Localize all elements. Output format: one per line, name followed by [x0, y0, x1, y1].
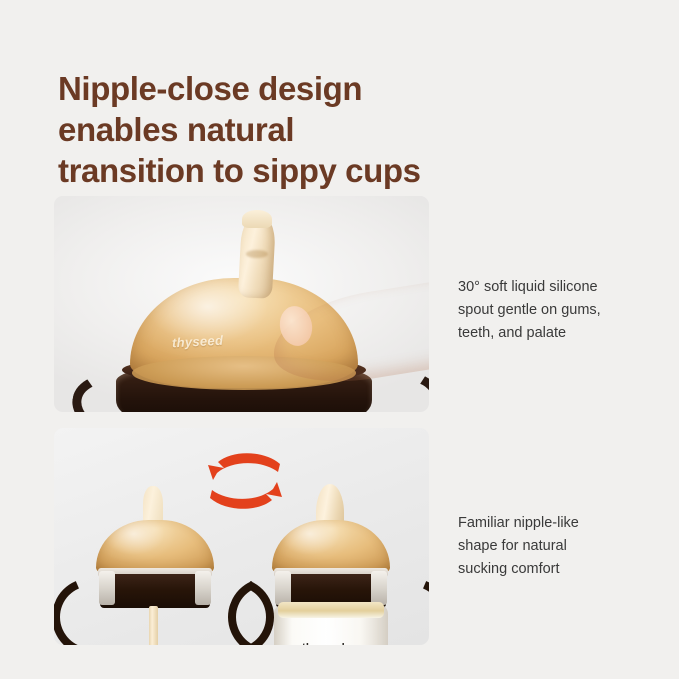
caption-nipple-line-3: sucking comfort [458, 558, 658, 581]
caption-nipple-line-2: shape for natural [458, 535, 658, 558]
caption-spout: 30° soft liquid silicone spout gentle on… [458, 276, 658, 345]
page-title-line-2: enables natural [58, 109, 528, 150]
caption-spout-line-3: teeth, and palate [458, 322, 658, 345]
straw-hinge-left [99, 571, 115, 605]
bottle-brand-logo: thyseed [302, 642, 345, 645]
photo-stage-a: thyseed [54, 196, 429, 412]
product-photo-nipple-compare: thyseed [54, 428, 429, 645]
nipple-hinge-right [371, 571, 387, 605]
nipple-hinge-left [275, 571, 291, 605]
caption-spout-line-1: 30° soft liquid silicone [458, 276, 658, 299]
product-feature-page: Nipple-close design enables natural tran… [0, 0, 679, 679]
silicone-spout-tip [242, 210, 272, 228]
bottle-top-straw-version [96, 478, 214, 645]
caption-nipple-line-1: Familiar nipple-like [458, 512, 658, 535]
straw-hinge-right [195, 571, 211, 605]
product-photo-spout-press: thyseed [54, 196, 429, 412]
page-title: Nipple-close design enables natural tran… [58, 68, 528, 191]
straw-tube [149, 606, 158, 645]
silicone-spout-crease [246, 250, 268, 258]
bottle-top-nipple-version: thyseed [272, 478, 390, 645]
caption-spout-line-2: spout gentle on gums, [458, 299, 658, 322]
straw-collar [100, 574, 210, 608]
page-title-line-1: Nipple-close design [58, 68, 528, 109]
bottle-neck-ring [278, 602, 384, 618]
caption-nipple: Familiar nipple-like shape for natural s… [458, 512, 658, 581]
photo-stage-b: thyseed [54, 428, 429, 645]
arrow-curve-left-icon [208, 453, 280, 480]
brand-logo-embossed: thyseed [172, 333, 224, 351]
page-title-line-3: transition to sippy cups [58, 150, 528, 191]
